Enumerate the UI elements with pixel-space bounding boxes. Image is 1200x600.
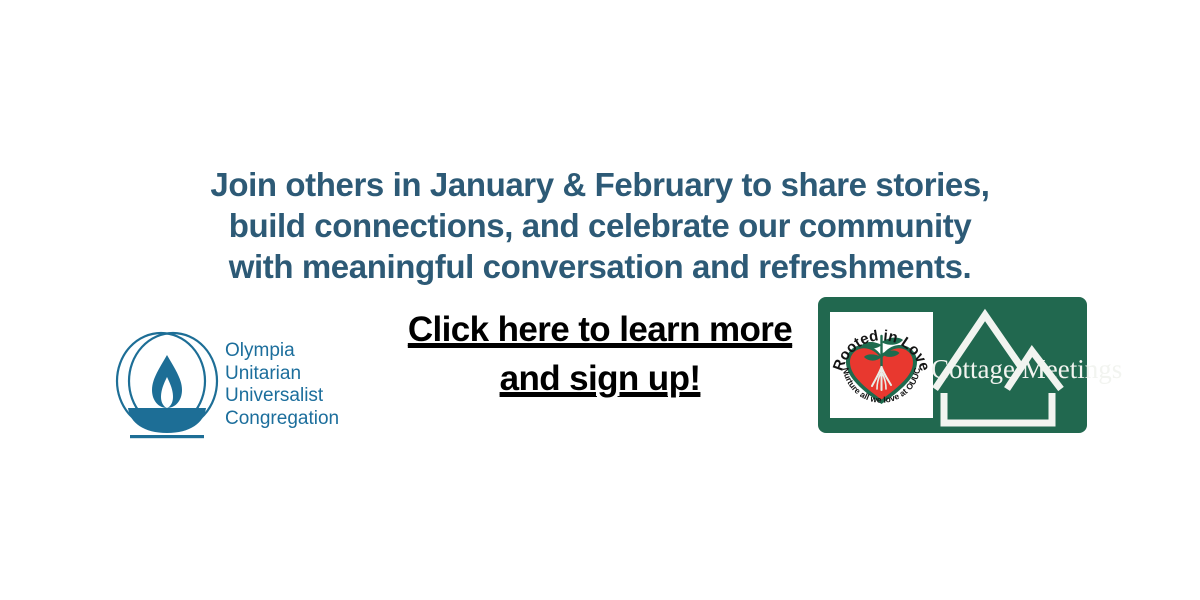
u-bracket-icon [944, 393, 1052, 423]
wordmark-line-3: Universalist [225, 385, 339, 408]
wordmark-line-4: Congregation [225, 408, 339, 431]
promo-banner: Join others in January & February to sha… [0, 0, 1200, 600]
page-title: Join others in January & February to sha… [0, 164, 1200, 287]
flaming-chalice-icon [112, 327, 222, 439]
cottage-meetings-card: Rooted in Love Nurture all we love at OU… [818, 297, 1087, 433]
headline-line-1: Join others in January & February to sha… [0, 164, 1200, 205]
ouuc-wordmark: Olympia Unitarian Universalist Congregat… [225, 340, 339, 430]
wordmark-line-1: Olympia [225, 340, 339, 363]
wordmark-line-2: Unitarian [225, 363, 339, 386]
headline-line-3: with meaningful conversation and refresh… [0, 246, 1200, 287]
ouuc-logo: Olympia Unitarian Universalist Congregat… [112, 327, 357, 439]
cottage-meetings-title: Cottage Meetings [931, 354, 1106, 384]
rooted-in-love-badge: Rooted in Love Nurture all we love at OU… [830, 312, 933, 418]
headline-line-2: build connections, and celebrate our com… [0, 205, 1200, 246]
